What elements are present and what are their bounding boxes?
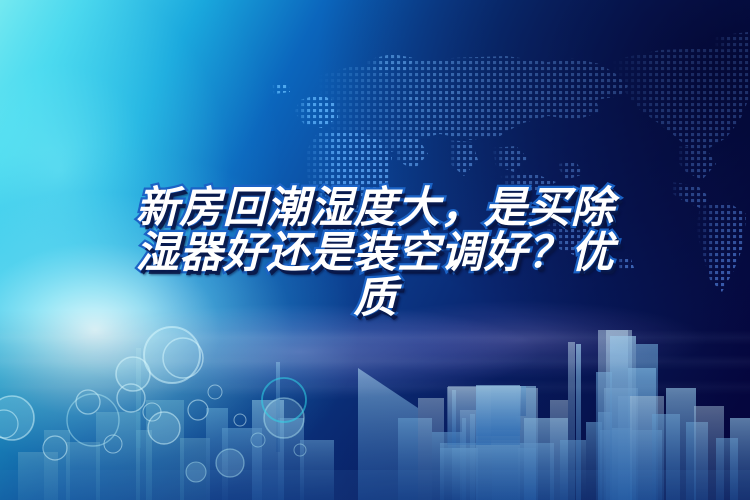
headline-line-1: 新房回潮湿度大，是买除	[60, 186, 690, 231]
headline-line-3: 质	[60, 276, 690, 321]
headline-text: 新房回潮湿度大，是买除 湿器好还是装空调好？优 质	[60, 186, 690, 321]
poster-canvas: 新房回潮湿度大，是买除 湿器好还是装空调好？优 质	[0, 0, 750, 500]
headline-line-2: 湿器好还是装空调好？优	[60, 231, 690, 276]
